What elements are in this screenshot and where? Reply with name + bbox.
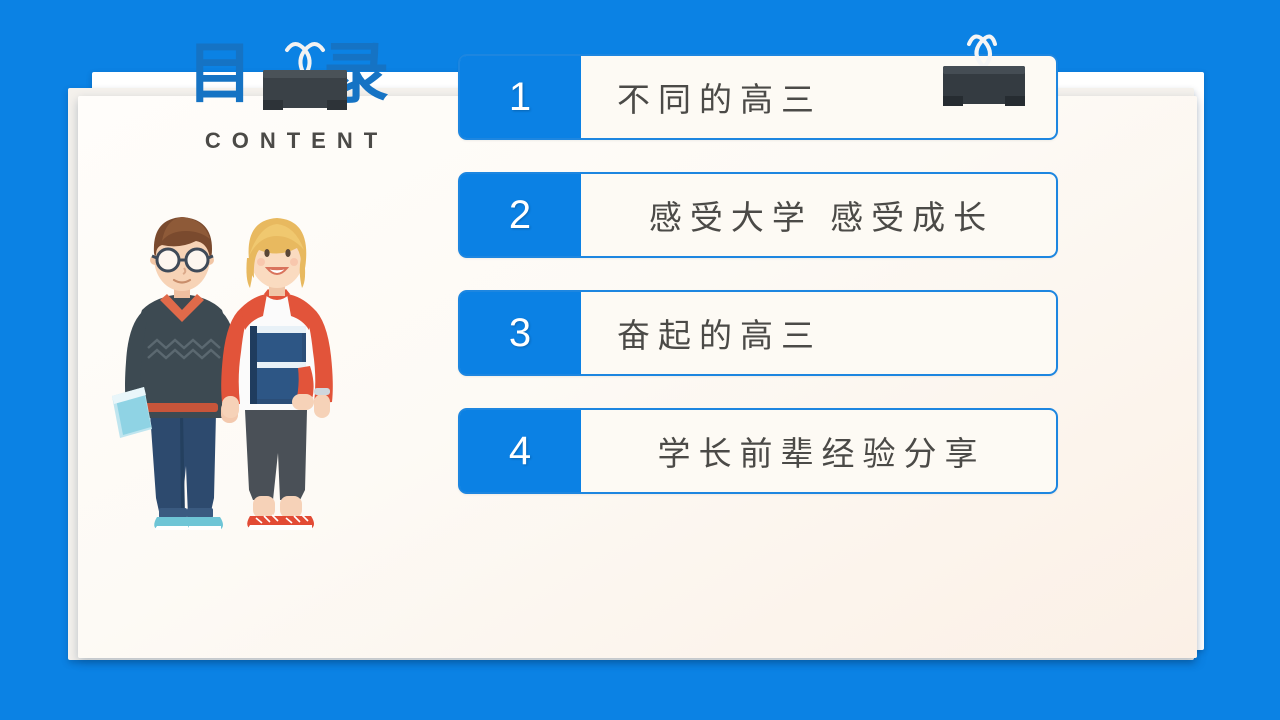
content-row-2[interactable]: 2 感受大学 感受成长 [458, 172, 1058, 258]
content-number-1: 1 [460, 56, 581, 138]
two-students-illustration [64, 198, 374, 548]
content-number-2: 2 [460, 174, 581, 256]
content-row-4[interactable]: 4 学长前辈经验分享 [458, 408, 1058, 494]
content-label-2: 感受大学 感受成长 [581, 174, 1056, 256]
content-number-3: 3 [460, 292, 581, 374]
content-label-4: 学长前辈经验分享 [581, 410, 1056, 492]
female-book [250, 326, 306, 404]
male-student [112, 217, 239, 530]
content-label-3: 奋起的高三 [581, 292, 1056, 374]
page-subtitle: CONTENT [107, 128, 486, 154]
presentation-slide: 目 录 CONTENT [0, 0, 1280, 720]
female-student [221, 218, 333, 530]
binder-clip-right [935, 30, 1031, 122]
content-row-3[interactable]: 3 奋起的高三 [458, 290, 1058, 376]
content-number-4: 4 [460, 410, 581, 492]
binder-clip-left [257, 38, 353, 130]
